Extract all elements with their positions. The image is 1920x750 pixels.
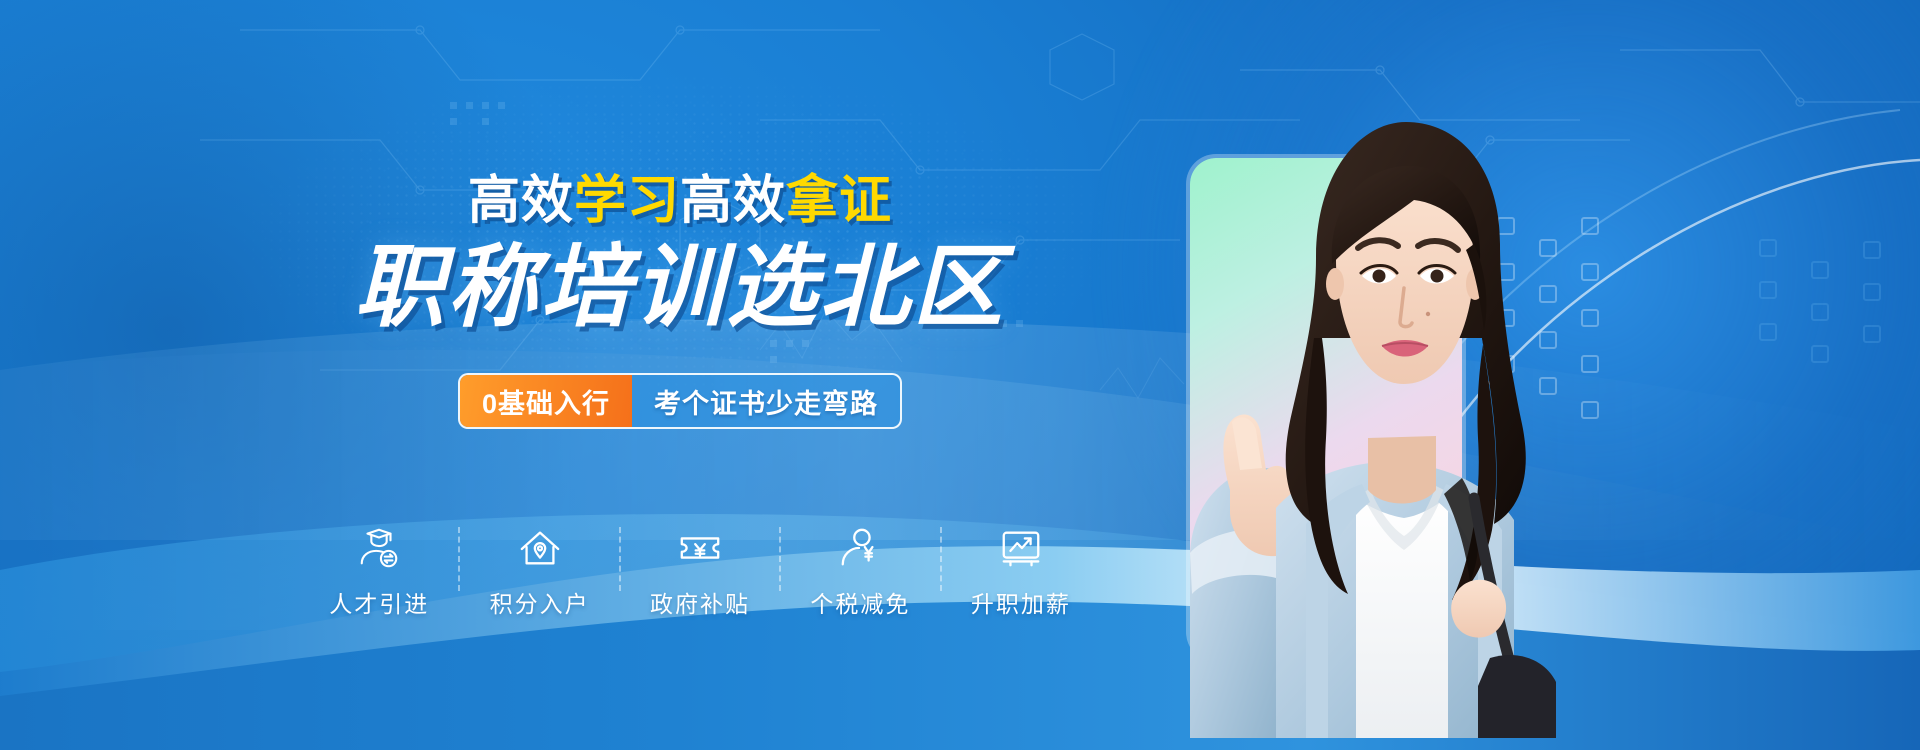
kicker-seg-2: 学习 [574, 172, 680, 230]
promo-badge[interactable]: 0基础入行 考个证书少走弯路 [458, 373, 902, 429]
feature-item-subsidy[interactable]: 政府补贴 [621, 525, 779, 619]
person-yuan-icon [837, 525, 883, 571]
businesswoman-photo [1070, 38, 1590, 738]
headline-text: 职称培训选北区 [355, 238, 1006, 338]
feature-item-promotion[interactable]: 升职加薪 [942, 525, 1100, 619]
feature-label: 升职加薪 [971, 585, 1071, 619]
graduate-person-icon [356, 525, 402, 571]
hero-illustration [1070, 38, 1590, 738]
kicker-seg-1: 高效 [468, 172, 574, 230]
feature-label: 积分入户 [490, 585, 590, 619]
chart-board-icon [998, 525, 1044, 571]
badge-left-label: 0基础入行 [460, 375, 632, 427]
feature-item-tax[interactable]: 个税减免 [781, 525, 939, 619]
feature-item-residency[interactable]: 积分入户 [460, 525, 618, 619]
copy-block: 高效学习高效拿证 职称培训选北区 0基础入行 考个证书少走弯路 [300, 175, 1060, 429]
promo-banner: 高效学习高效拿证 职称培训选北区 0基础入行 考个证书少走弯路 [0, 0, 1920, 750]
kicker-line: 高效学习高效拿证 [300, 175, 1060, 227]
feature-item-talent[interactable]: 人才引进 [300, 525, 458, 619]
feature-label: 人才引进 [329, 585, 429, 619]
kicker-seg-3: 高效 [680, 172, 786, 230]
feature-label: 个税减免 [810, 585, 910, 619]
house-pin-icon [517, 525, 563, 571]
headline-title: 职称培训选北区 [300, 243, 1060, 333]
feature-label: 政府补贴 [650, 585, 750, 619]
promo-badge-row: 0基础入行 考个证书少走弯路 [300, 373, 1060, 429]
kicker-seg-4: 拿证 [786, 172, 892, 230]
badge-right-label: 考个证书少走弯路 [632, 375, 900, 427]
feature-list: 人才引进 积分入户 政府补 [300, 525, 1100, 619]
ticket-yuan-icon [677, 525, 723, 571]
